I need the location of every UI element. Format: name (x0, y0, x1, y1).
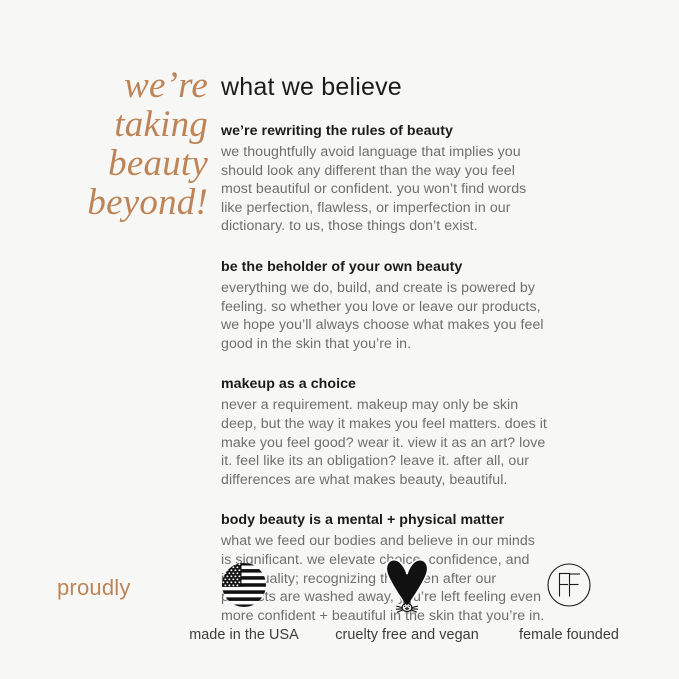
belief-title: body beauty is a mental + physical matte… (221, 511, 629, 530)
belief-body: we thoughtfully avoid language that impl… (221, 143, 629, 236)
page-title: what we believe (221, 72, 629, 102)
badge-label: female founded (479, 626, 659, 644)
belief-body-line: what we feed our bodies and believe in o… (221, 532, 629, 551)
badge-female-founded: female founded (479, 556, 659, 644)
belief-block-1: we’re rewriting the rules of beauty we t… (221, 122, 629, 236)
belief-body-line: we hope you’ll always choose what makes … (221, 316, 629, 335)
page-root: we’re taking beauty beyond! what we beli… (0, 0, 679, 679)
tagline-line-3: beauty (22, 144, 208, 183)
belief-body-line: make you feel good? wear it. view it as … (221, 434, 629, 453)
belief-body-line: everything we do, build, and create is p… (221, 279, 629, 298)
belief-body-line: we thoughtfully avoid language that impl… (221, 143, 629, 162)
belief-body-line: like perfection, flawless, or imperfecti… (221, 199, 629, 218)
badge-label: cruelty free and vegan (317, 626, 497, 644)
tagline-line-1: we’re (22, 66, 208, 105)
usa-flag-circle-icon (154, 556, 334, 614)
badge-cruelty-free: cruelty free and vegan (317, 556, 497, 644)
belief-body-line: differences are what makes beauty, beaut… (221, 471, 629, 490)
belief-body-line: never a requirement. makeup may only be … (221, 396, 629, 415)
belief-body-line: should look any different than the way y… (221, 162, 629, 181)
belief-title: we’re rewriting the rules of beauty (221, 122, 629, 141)
belief-title: be the beholder of your own beauty (221, 258, 629, 277)
tagline-line-2: taking (22, 105, 208, 144)
belief-body-line: feeling. so whether you love or leave ou… (221, 298, 629, 317)
belief-body-line: dictionary. to us, those things don’t ex… (221, 217, 629, 236)
proudly-label: proudly (57, 575, 131, 601)
tagline-line-4: beyond! (22, 183, 208, 222)
belief-body-line: deep, but the way it makes you feel matt… (221, 415, 629, 434)
brand-tagline: we’re taking beauty beyond! (22, 66, 208, 222)
belief-body-line: it. feel like its an obligation? leave i… (221, 452, 629, 471)
badge-made-in-usa: made in the USA (154, 556, 334, 644)
leaping-bunny-heart-icon (317, 556, 497, 614)
belief-body: never a requirement. makeup may only be … (221, 396, 629, 489)
belief-title: makeup as a choice (221, 375, 629, 394)
content-area: we’re taking beauty beyond! what we beli… (0, 0, 679, 545)
belief-body: everything we do, build, and create is p… (221, 279, 629, 353)
belief-body-line: most beautiful or confident. you won’t f… (221, 180, 629, 199)
belief-block-3: makeup as a choice never a requirement. … (221, 375, 629, 489)
badges-row: proudly (0, 556, 679, 666)
female-founded-monogram-icon (479, 556, 659, 614)
beliefs-column: what we believe we’re rewriting the rule… (221, 72, 629, 625)
belief-body-line: good in the skin that you’re in. (221, 335, 629, 354)
belief-block-2: be the beholder of your own beauty every… (221, 258, 629, 353)
badge-label: made in the USA (154, 626, 334, 644)
